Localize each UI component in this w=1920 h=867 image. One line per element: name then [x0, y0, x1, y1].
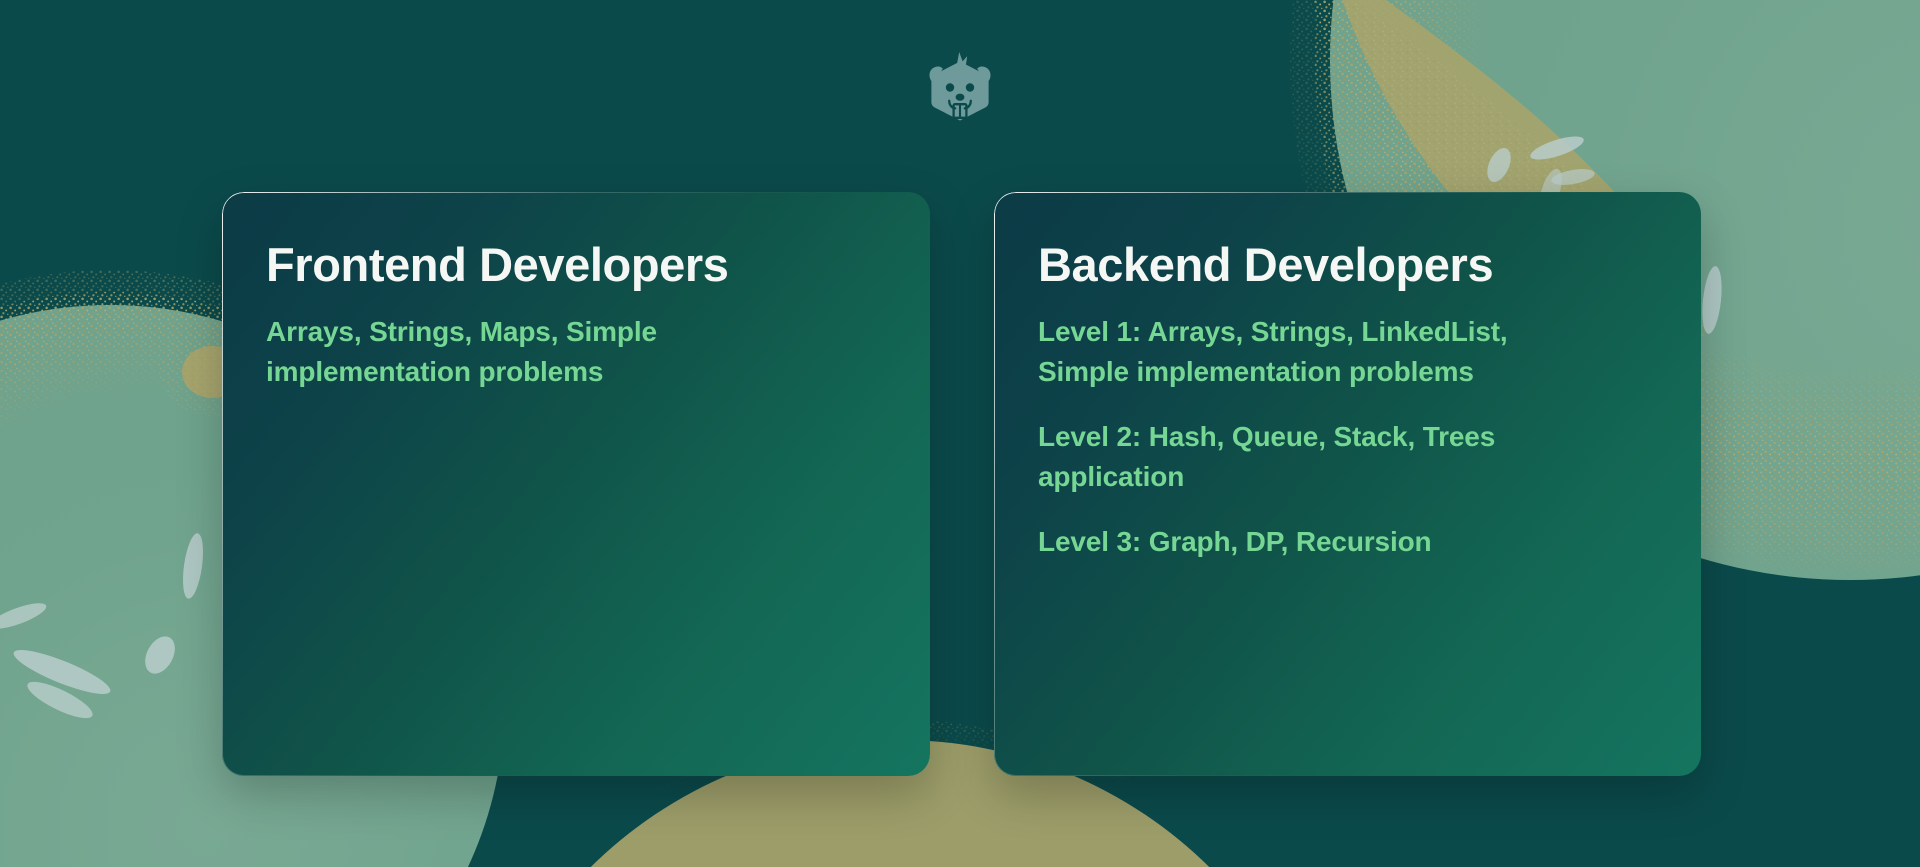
page-root: Frontend Developers Arrays, Strings, Map… [0, 0, 1920, 867]
card-frontend-lines: Arrays, Strings, Maps, Simple implementa… [266, 312, 886, 392]
card-backend-line-2: Level 2: Hash, Queue, Stack, Trees appli… [1038, 417, 1538, 497]
card-frontend-line-1: Arrays, Strings, Maps, Simple implementa… [266, 312, 786, 392]
card-frontend-title: Frontend Developers [266, 240, 886, 290]
card-backend-lines: Level 1: Arrays, Strings, LinkedList, Si… [1038, 312, 1657, 562]
card-backend-title: Backend Developers [1038, 240, 1657, 290]
cards-row: Frontend Developers Arrays, Strings, Map… [222, 192, 1700, 776]
beaver-mascot-icon [923, 52, 997, 130]
card-backend-line-3: Level 3: Graph, DP, Recursion [1038, 522, 1538, 562]
card-backend-line-1: Level 1: Arrays, Strings, LinkedList, Si… [1038, 312, 1538, 392]
card-backend[interactable]: Backend Developers Level 1: Arrays, Stri… [994, 192, 1701, 776]
card-frontend[interactable]: Frontend Developers Arrays, Strings, Map… [222, 192, 930, 776]
